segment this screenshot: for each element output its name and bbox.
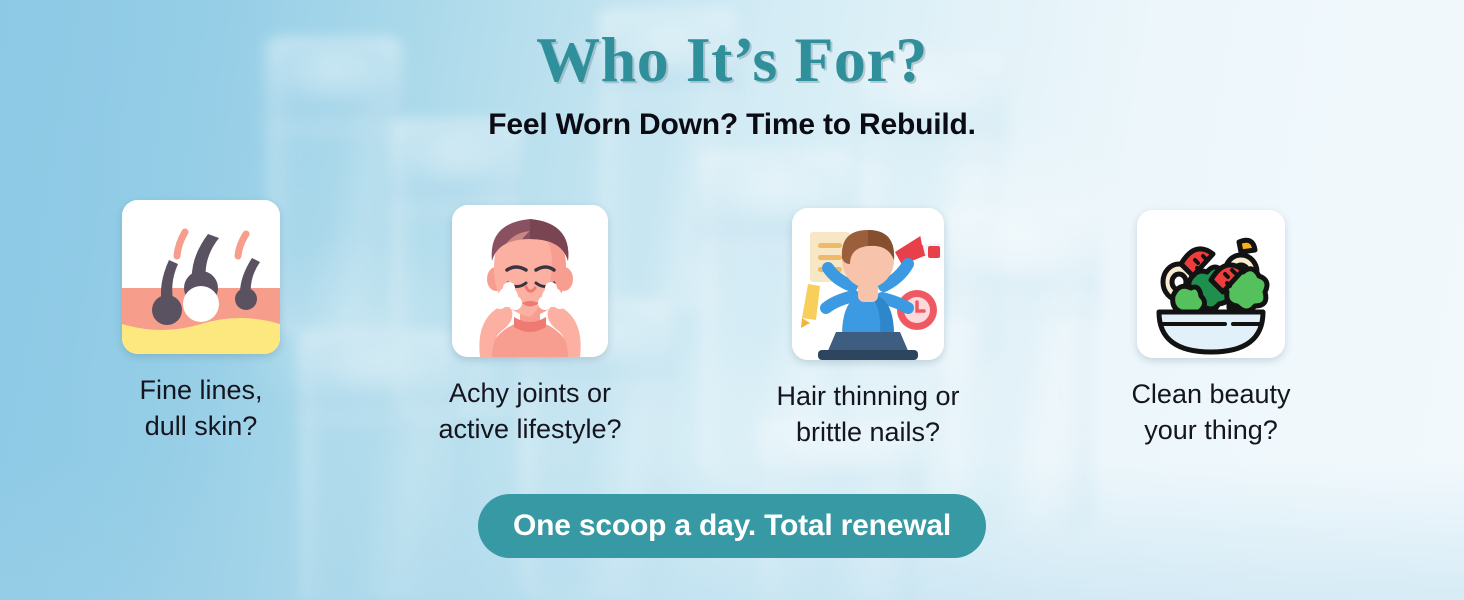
multitasking-person-icon <box>792 208 944 360</box>
benefit-card-fine-lines[interactable]: Fine lines, dull skin? <box>122 200 280 444</box>
benefit-label-line-2: active lifestyle? <box>438 414 621 444</box>
benefit-label-line-1: Fine lines, <box>139 375 262 405</box>
cta-button[interactable]: One scoop a day. Total renewal <box>478 494 986 558</box>
benefit-label-line-2: brittle nails? <box>796 417 940 447</box>
who-its-for-banner: Who It’s For? Feel Worn Down? Time to Re… <box>0 0 1464 600</box>
benefit-card-hair-thinning[interactable]: Hair thinning or brittle nails? <box>792 200 944 450</box>
benefit-card-label: Fine lines, dull skin? <box>100 372 302 444</box>
page-title: Who It’s For? <box>0 24 1464 96</box>
benefit-card-label: Achy joints or active lifestyle? <box>408 375 652 447</box>
benefit-card-list: Fine lines, dull skin? <box>0 200 1464 460</box>
benefit-label-line-2: your thing? <box>1144 415 1278 445</box>
benefit-label-line-2: dull skin? <box>145 411 258 441</box>
hair-follicle-skin-icon <box>122 200 280 354</box>
benefit-card-label: Hair thinning or brittle nails? <box>748 378 988 450</box>
benefit-card-clean-beauty[interactable]: Clean beauty your thing? <box>1137 200 1285 448</box>
salad-bowl-icon <box>1137 210 1285 358</box>
page-subtitle: Feel Worn Down? Time to Rebuild. <box>0 106 1464 144</box>
benefit-card-achy-joints[interactable]: Achy joints or active lifestyle? <box>452 200 608 447</box>
benefit-label-line-1: Achy joints or <box>449 378 611 408</box>
benefit-label-line-1: Hair thinning or <box>776 381 959 411</box>
face-washing-icon <box>452 205 608 357</box>
benefit-card-label: Clean beauty your thing? <box>1093 376 1329 448</box>
benefit-label-line-1: Clean beauty <box>1131 379 1290 409</box>
